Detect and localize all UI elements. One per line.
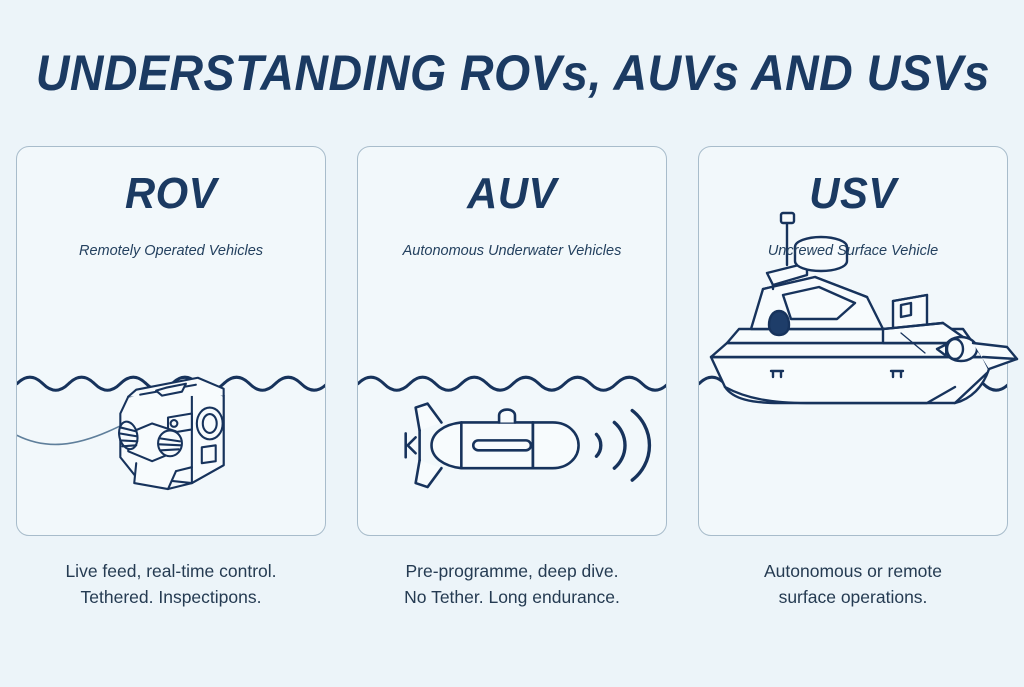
card-auv-subtitle: Autonomous Underwater Vehicles	[358, 241, 666, 261]
caption-usv-line-1: Autonomous or remote	[698, 558, 1008, 584]
card-auv-title: AUV	[366, 169, 659, 219]
card-rov-title: ROV	[25, 169, 318, 219]
card-rov-subtitle: Remotely Operated Vehicles	[17, 241, 325, 261]
page-title: UNDERSTANDING ROVs, AUVs AND USVs	[36, 44, 988, 102]
caption-usv-line-2: surface operations.	[698, 584, 1008, 610]
caption-auv-line-2: No Tether. Long endurance.	[357, 584, 667, 610]
card-usv[interactable]: USV Uncrewed Surface Vehicle	[698, 146, 1008, 536]
card-rov[interactable]: ROV Remotely Operated Vehicles	[16, 146, 326, 536]
caption-rov-line-2: Tethered. Inspectipons.	[16, 584, 326, 610]
caption-usv: Autonomous or remote surface operations.	[698, 558, 1008, 610]
card-row: ROV Remotely Operated Vehicles	[16, 146, 1008, 536]
caption-row: Live feed, real-time control. Tethered. …	[16, 558, 1008, 610]
caption-auv: Pre-programme, deep dive. No Tether. Lon…	[357, 558, 667, 610]
caption-rov: Live feed, real-time control. Tethered. …	[16, 558, 326, 610]
card-usv-title: USV	[707, 169, 1000, 219]
card-auv[interactable]: AUV Autonomous Underwater Vehicles	[357, 146, 667, 536]
caption-auv-line-1: Pre-programme, deep dive.	[357, 558, 667, 584]
infographic-root: UNDERSTANDING ROVs, AUVs AND USVs	[0, 0, 1024, 687]
card-usv-subtitle: Uncrewed Surface Vehicle	[699, 241, 1007, 261]
caption-rov-line-1: Live feed, real-time control.	[16, 558, 326, 584]
